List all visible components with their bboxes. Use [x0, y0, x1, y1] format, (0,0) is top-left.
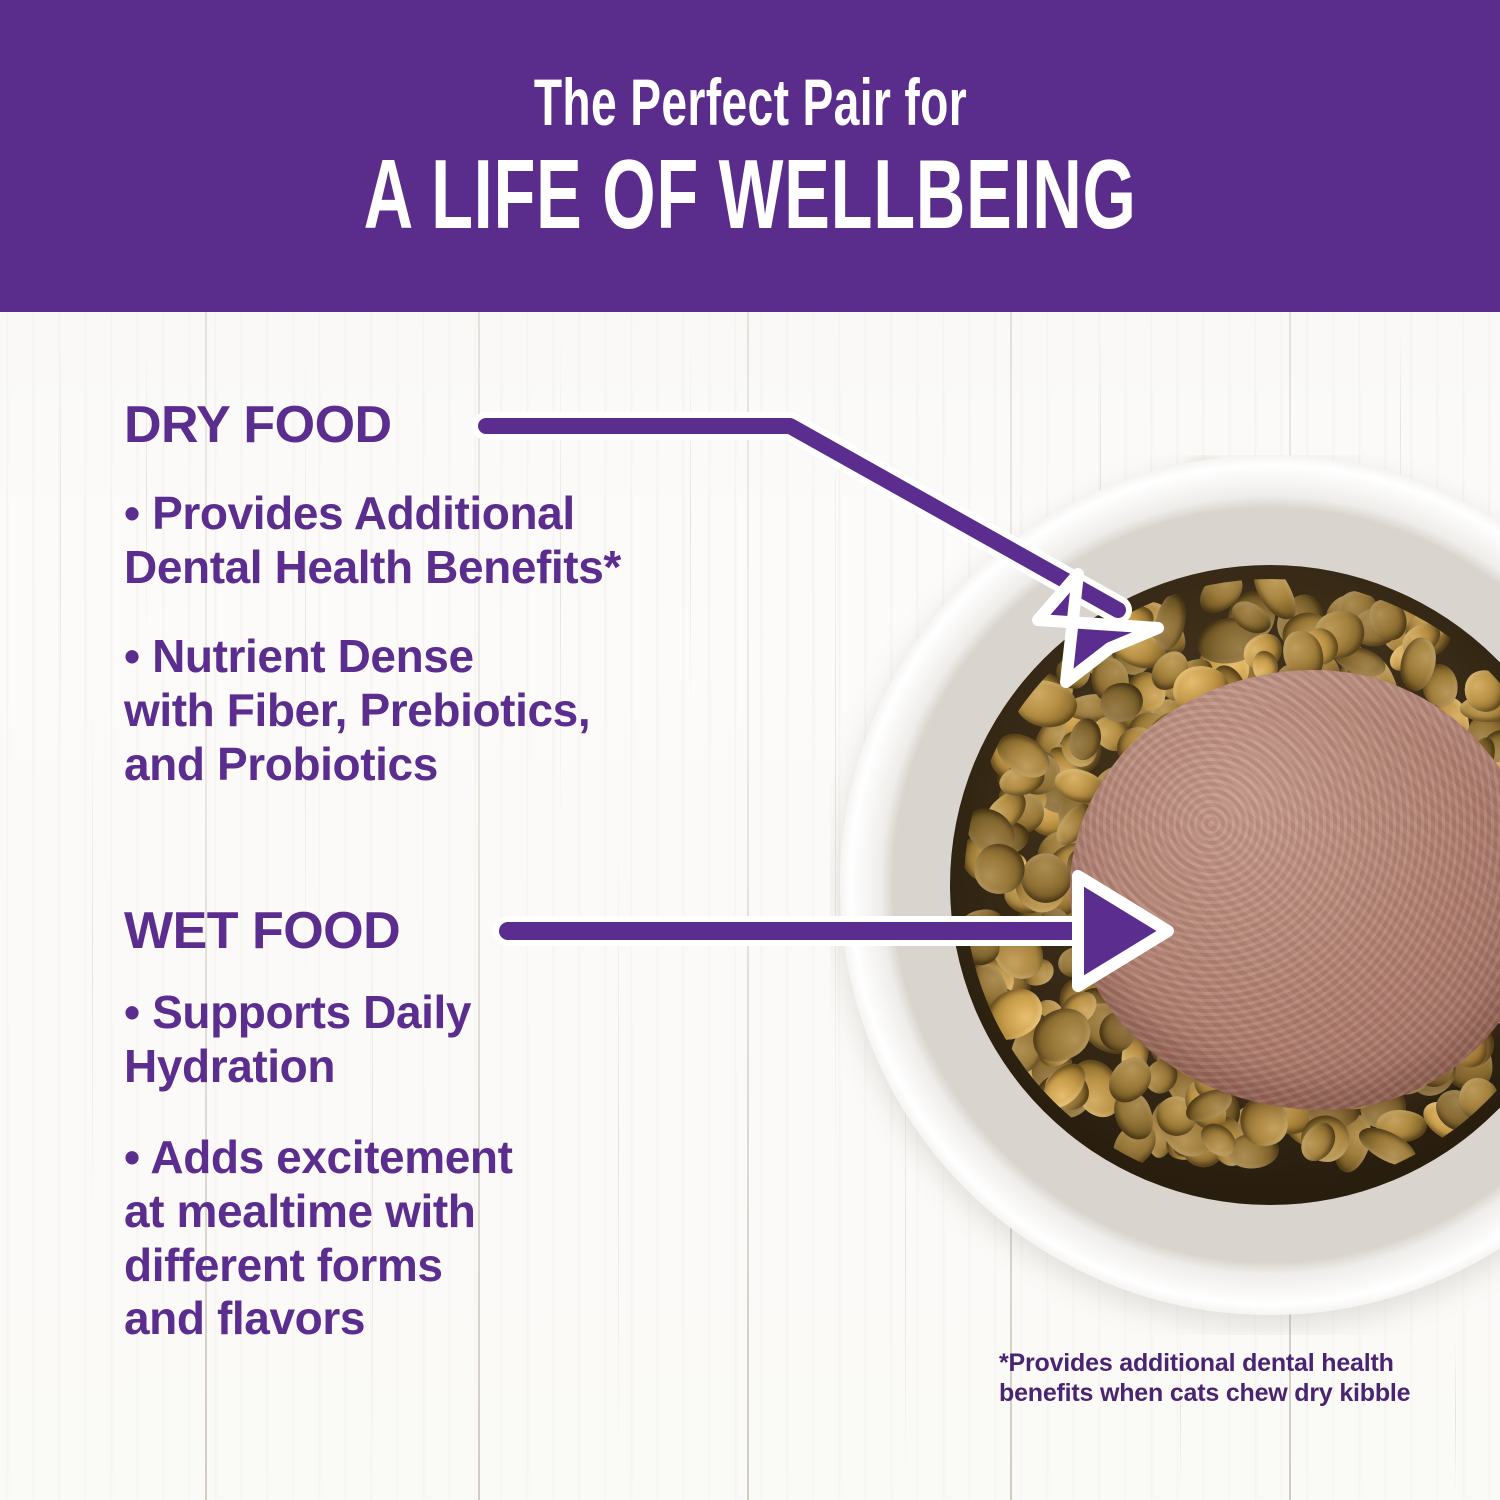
dry-food-bullet-2: • Nutrient Dense with Fiber, Prebiotics,…: [124, 630, 784, 791]
footnote-line: *Provides additional dental health: [999, 1348, 1439, 1378]
steel-bowl: [840, 455, 1500, 1315]
bullet-line: at mealtime with: [124, 1185, 784, 1239]
wood-grain: [1455, 1340, 1456, 1490]
infographic-canvas: The Perfect Pair for A LIFE OF WELLBEING…: [0, 0, 1500, 1500]
wet-food-bullet-1: • Supports Daily Hydration: [124, 986, 784, 1094]
bullet-line: Dental Health Benefits*: [124, 541, 784, 595]
bullet-line: different forms: [124, 1239, 784, 1293]
bullet-line: • Adds excitement: [124, 1131, 784, 1185]
bullet-line: and flavors: [124, 1292, 784, 1346]
section-title-wet-food: WET FOOD: [124, 905, 400, 957]
bullet-line: • Provides Additional: [124, 487, 784, 541]
bullet-line: and Probiotics: [124, 738, 784, 792]
bullet-line: • Nutrient Dense: [124, 630, 784, 684]
bullet-line: • Supports Daily: [124, 986, 784, 1040]
footnote: *Provides additional dental health benef…: [999, 1348, 1439, 1408]
bullet-line: with Fiber, Prebiotics,: [124, 684, 784, 738]
food-bowl-photo: [830, 455, 1500, 1335]
benefits-copy-column: DRY FOOD • Provides Additional Dental He…: [0, 0, 840, 1500]
wet-food-bullet-2: • Adds excitement at mealtime with diffe…: [124, 1131, 784, 1346]
section-title-dry-food: DRY FOOD: [124, 399, 392, 451]
dry-food-bullet-1: • Provides Additional Dental Health Bene…: [124, 487, 784, 595]
footnote-line: benefits when cats chew dry kibble: [999, 1378, 1439, 1408]
bullet-line: Hydration: [124, 1040, 784, 1094]
kibble-piece: [1056, 656, 1090, 689]
